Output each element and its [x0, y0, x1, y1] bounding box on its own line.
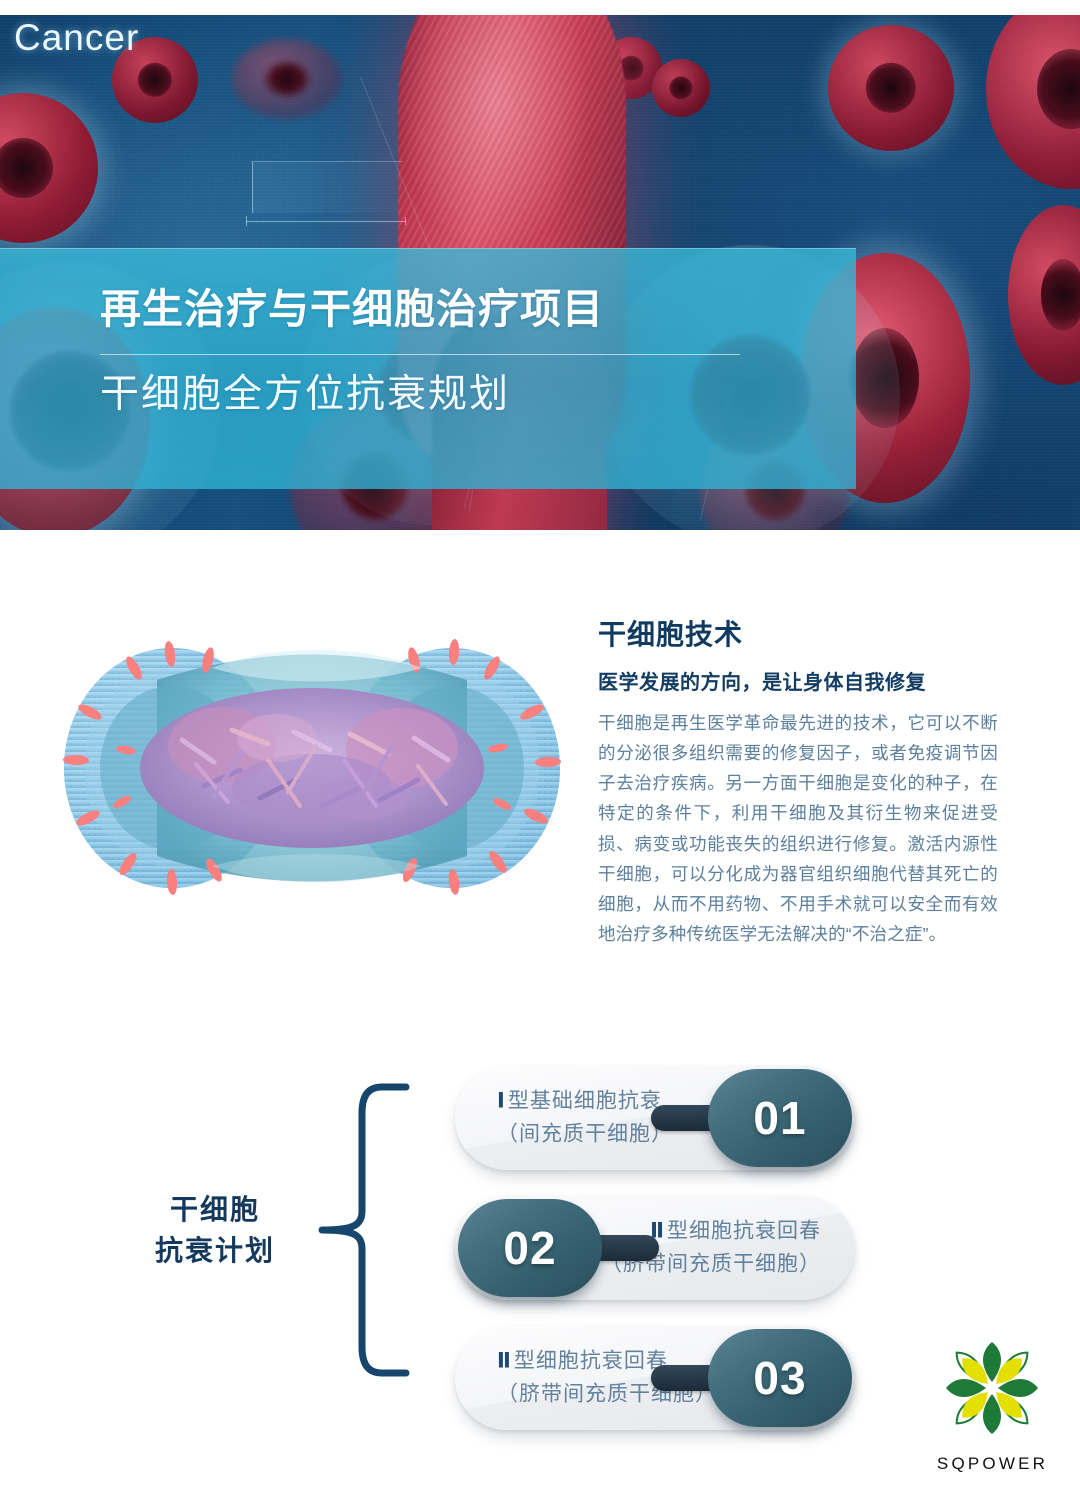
- plan-item-roman: Ⅱ: [497, 1349, 512, 1372]
- plan-item-badge: 01: [708, 1069, 852, 1167]
- plan-item-number: 02: [503, 1221, 556, 1275]
- blood-cell: [652, 59, 710, 117]
- plan-item-line1: Ⅰ型基础细胞抗衰: [497, 1085, 673, 1118]
- plan-item-01[interactable]: Ⅰ型基础细胞抗衰 （间充质干细胞） 01: [455, 1066, 855, 1170]
- plan-item-line1-text: 型基础细胞抗衰: [508, 1089, 662, 1112]
- plan-label: 干细胞 抗衰计划: [120, 1190, 310, 1271]
- hero-title-group: 再生治疗与干细胞治疗项目 干细胞全方位抗衰规划: [100, 287, 800, 418]
- plan-item-text: Ⅰ型基础细胞抗衰 （间充质干细胞）: [497, 1085, 673, 1150]
- intro-subheading: 医学发展的方向，是让身体自我修复: [598, 666, 998, 695]
- plan-item-line2: （间充质干细胞）: [497, 1118, 673, 1151]
- plan-item-number: 03: [753, 1351, 806, 1405]
- intro-section: 干细胞技术 医学发展的方向，是让身体自我修复 干细胞是再生医学革命最先进的技术，…: [0, 530, 1080, 1040]
- hero-title-panel: 再生治疗与干细胞治疗项目 干细胞全方位抗衰规划: [0, 248, 856, 489]
- cancer-tag-underline: [246, 221, 406, 222]
- brand-logo: SQPOWER: [930, 1336, 1055, 1496]
- plan-item-line1-text: 型细胞抗衰回春: [667, 1219, 821, 1242]
- plan-item-roman: Ⅰ: [497, 1089, 506, 1112]
- intro-body: 干细胞是再生医学革命最先进的技术，它可以不断的分泌很多组织需要的修复因子，或者免…: [598, 708, 998, 950]
- title-divider: [100, 354, 740, 355]
- curly-brace-icon: [318, 1083, 410, 1377]
- cancer-tag-frame: [252, 161, 402, 213]
- plan-item-badge: 02: [458, 1199, 602, 1297]
- plan-item-03[interactable]: Ⅱ型细胞抗衰回春 （脐带间充质干细胞） 03: [455, 1326, 855, 1430]
- brand-name: SQPOWER: [930, 1454, 1055, 1474]
- cancer-label: Cancer: [14, 17, 139, 59]
- plan-label-line2: 抗衰计划: [120, 1231, 310, 1272]
- plan-item-number: 01: [753, 1091, 806, 1145]
- cancer-tag: [252, 161, 402, 213]
- plan-label-line1: 干细胞: [120, 1190, 310, 1231]
- plan-item-badge: 03: [708, 1329, 852, 1427]
- blood-cell: [828, 25, 954, 151]
- hero-banner: Cancer 再生治疗与干细胞治疗项目 干细胞全方位抗衰规划: [0, 15, 1080, 530]
- intro-text-column: 干细胞技术 医学发展的方向，是让身体自我修复 干细胞是再生医学革命最先进的技术，…: [598, 618, 998, 950]
- hero-subtitle: 干细胞全方位抗衰规划: [100, 373, 800, 418]
- dividing-cell-image: [62, 620, 562, 910]
- hero-title: 再生治疗与干细胞治疗项目: [100, 287, 800, 332]
- plan-item-line1-text: 型细胞抗衰回春: [514, 1349, 668, 1372]
- plan-item-02[interactable]: Ⅱ型细胞抗衰回春 （脐带间充质干细胞） 02: [455, 1196, 855, 1300]
- blood-cell: [232, 39, 342, 119]
- intro-heading: 干细胞技术: [598, 618, 998, 652]
